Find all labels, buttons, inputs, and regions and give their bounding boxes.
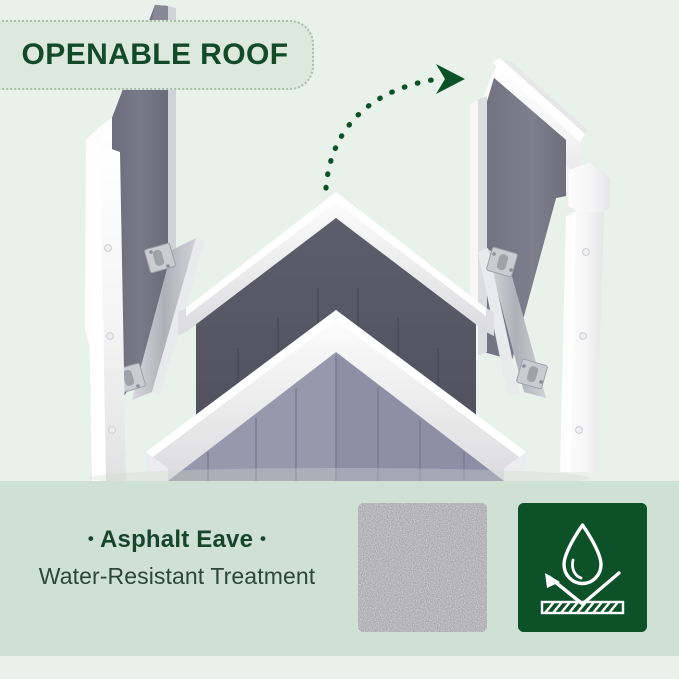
- feature-text-block: • Asphalt Eave • Water-Resistant Treatme…: [12, 524, 342, 593]
- bullet-right: •: [260, 529, 266, 548]
- feature-title: Asphalt Eave: [100, 526, 253, 553]
- asphalt-granule-texture-swatch: [358, 503, 487, 632]
- curved-dotted-arrow: [290, 48, 490, 193]
- product-feature-image: OPENABLE ROOF • Asphalt Eave • Water-Res…: [0, 0, 679, 679]
- asphalt-texture-vector: [358, 503, 487, 632]
- bullet-left: •: [88, 529, 94, 548]
- feature-subtitle: Water-Resistant Treatment: [12, 559, 342, 593]
- headline-badge-label: OPENABLE ROOF: [0, 20, 314, 90]
- water-resistant-icon-tile: [518, 503, 647, 632]
- background-footer-strip: [0, 656, 679, 679]
- water-resistant-icon: [518, 503, 647, 632]
- white-corner-post-left: [86, 140, 126, 481]
- feature-title-line: • Asphalt Eave •: [12, 524, 342, 555]
